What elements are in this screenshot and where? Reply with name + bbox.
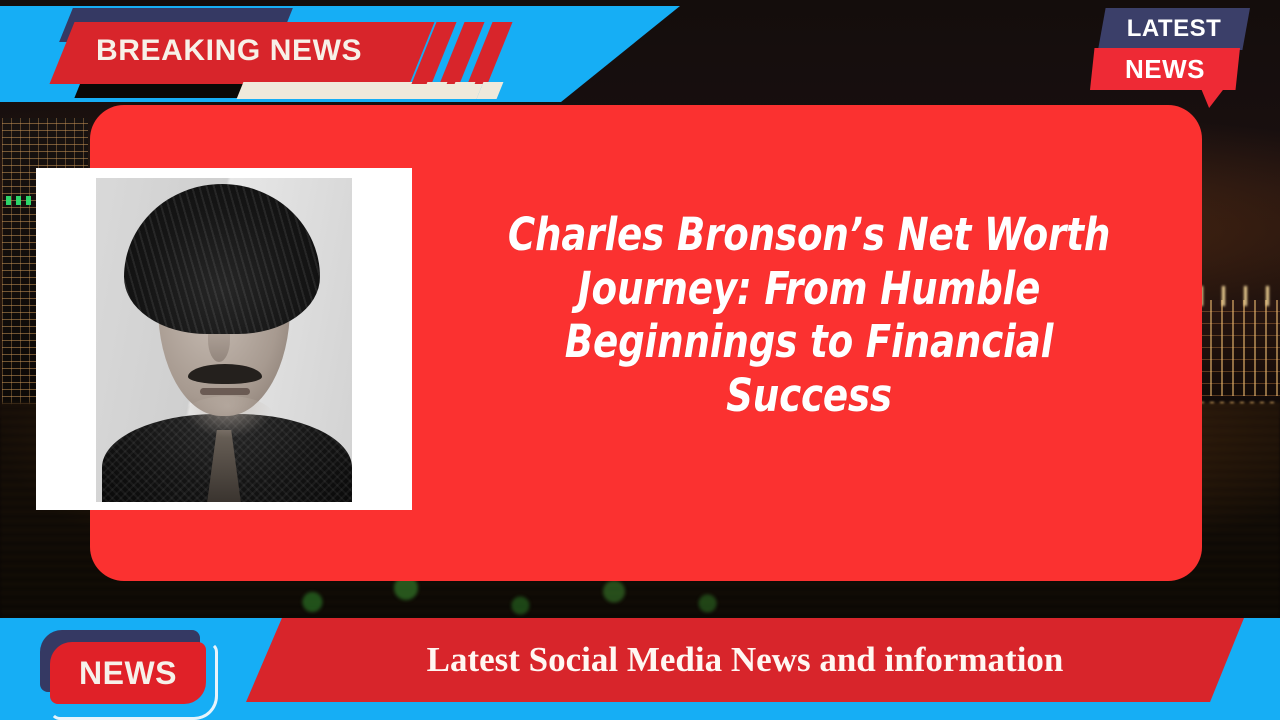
news-graphic-stage: BREAKING NEWS LATEST NEWS Charles Bronso… — [0, 0, 1280, 720]
news-logo[interactable]: NEWS — [32, 630, 222, 710]
bottom-bar: Latest Social Media News and information… — [0, 618, 1280, 720]
headline-line-1: Charles Bronson’s Net Worth — [477, 208, 1141, 262]
latest-badge-line1: LATEST — [1127, 15, 1222, 43]
portrait-moustache — [188, 364, 262, 384]
headline-line-2: Journey: From Humble — [477, 262, 1141, 316]
breaking-news-label: BREAKING NEWS — [96, 34, 362, 68]
portrait-hair — [124, 184, 320, 334]
portrait-photo — [96, 178, 352, 502]
headline-text: Charles Bronson’s Net Worth Journey: Fro… — [477, 208, 1141, 422]
portrait-frame — [36, 168, 412, 510]
headline-line-3: Beginnings to Financial Success — [477, 315, 1141, 422]
portrait-chin — [182, 396, 274, 438]
portrait-mouth — [200, 388, 250, 395]
latest-badge-line2: NEWS — [1125, 54, 1205, 85]
breaking-news-banner: BREAKING NEWS — [0, 0, 1280, 110]
latest-news-badge: LATEST NEWS — [1090, 8, 1250, 100]
latest-badge-bottom-block: NEWS — [1090, 48, 1240, 90]
bottom-tagline: Latest Social Media News and information — [246, 618, 1244, 702]
news-logo-label: NEWS — [50, 642, 206, 704]
latest-badge-top-block: LATEST — [1098, 8, 1250, 50]
